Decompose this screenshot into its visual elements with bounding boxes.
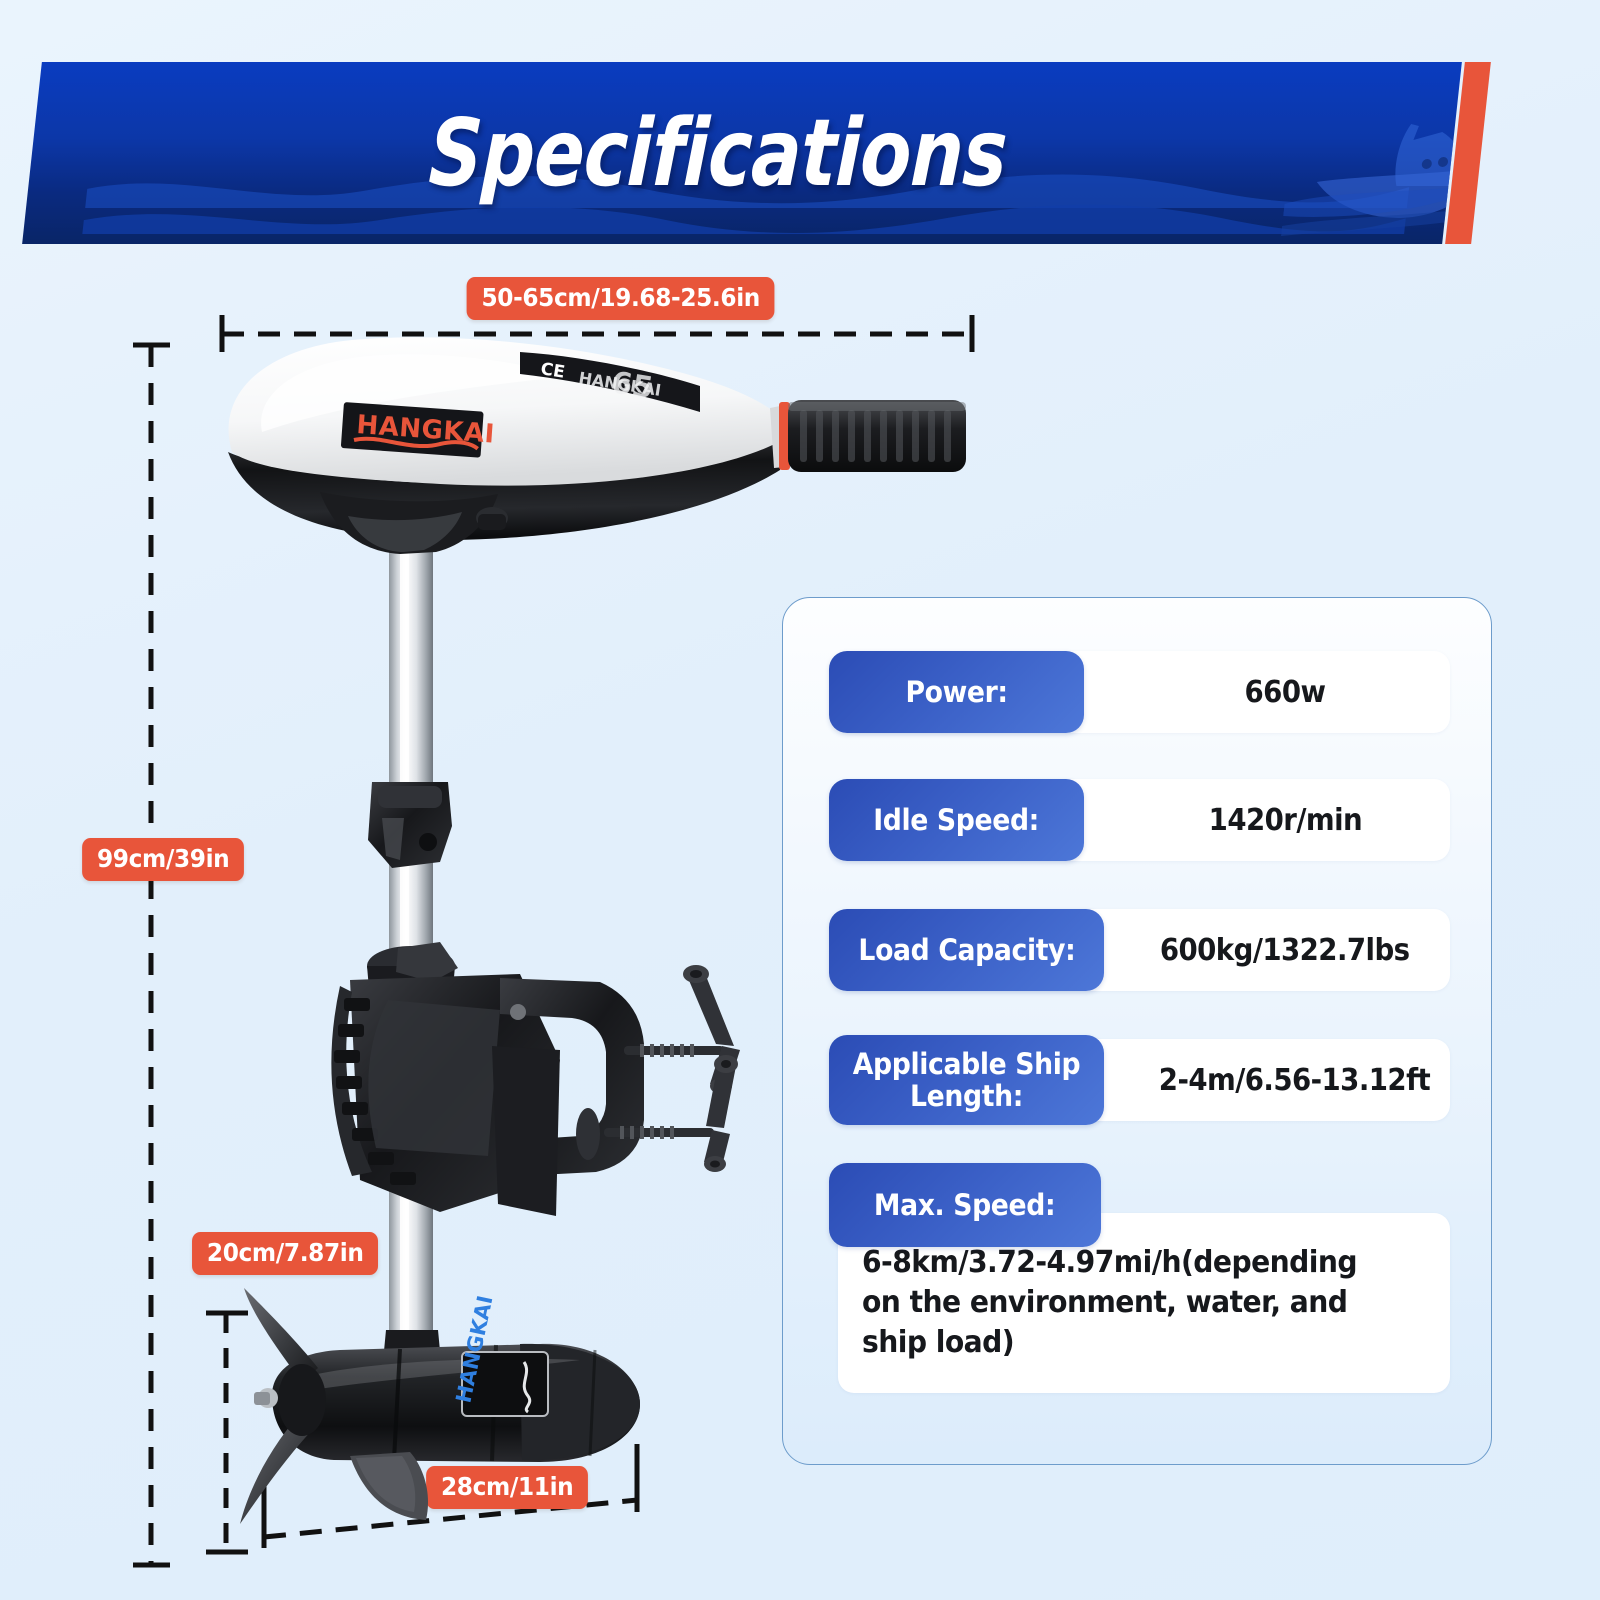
spec-label-load-capacity: Load Capacity: bbox=[829, 909, 1104, 991]
brand-badge-lower: HANGKAI bbox=[451, 1293, 548, 1416]
svg-text:65: 65 bbox=[609, 365, 656, 406]
spec-label-ship-length: Applicable Ship Length: bbox=[829, 1035, 1104, 1125]
spec-value-idle-speed: 1420r/min bbox=[1208, 803, 1361, 838]
boat-silhouette-icon bbox=[1279, 120, 1461, 244]
spec-value-load-capacity: 600kg/1322.7lbs bbox=[1160, 933, 1410, 968]
spec-value-power: 660w bbox=[1245, 675, 1326, 710]
transom-mount-bracket bbox=[331, 942, 740, 1216]
spec-label-power: Power: bbox=[829, 651, 1084, 733]
infographic-root: Specifications 50-65cm/19.68-25. bbox=[0, 0, 1600, 1600]
spec-label-idle-speed: Idle Speed: bbox=[829, 779, 1084, 861]
throttle-handle bbox=[770, 400, 966, 472]
specifications-rows: 660w Power: 1420r/min Idle Speed: 600kg/… bbox=[783, 598, 1493, 1466]
lower-motor-unit: HANGKAI bbox=[240, 1288, 640, 1524]
shaft-collar-clamp bbox=[368, 782, 452, 868]
motor-head: CE HANGKAI 65 HANGKAI bbox=[228, 337, 792, 554]
spec-value-max-speed: 6-8km/3.72-4.97mi/h(depending on the env… bbox=[862, 1243, 1392, 1363]
svg-text:CE: CE bbox=[539, 359, 566, 383]
propeller bbox=[240, 1288, 326, 1524]
spec-label-max-speed: Max. Speed: bbox=[829, 1163, 1101, 1247]
specifications-card: 660w Power: 1420r/min Idle Speed: 600kg/… bbox=[782, 597, 1492, 1465]
spec-value-ship-length: 2-4m/6.56-13.12ft bbox=[1158, 1063, 1429, 1098]
